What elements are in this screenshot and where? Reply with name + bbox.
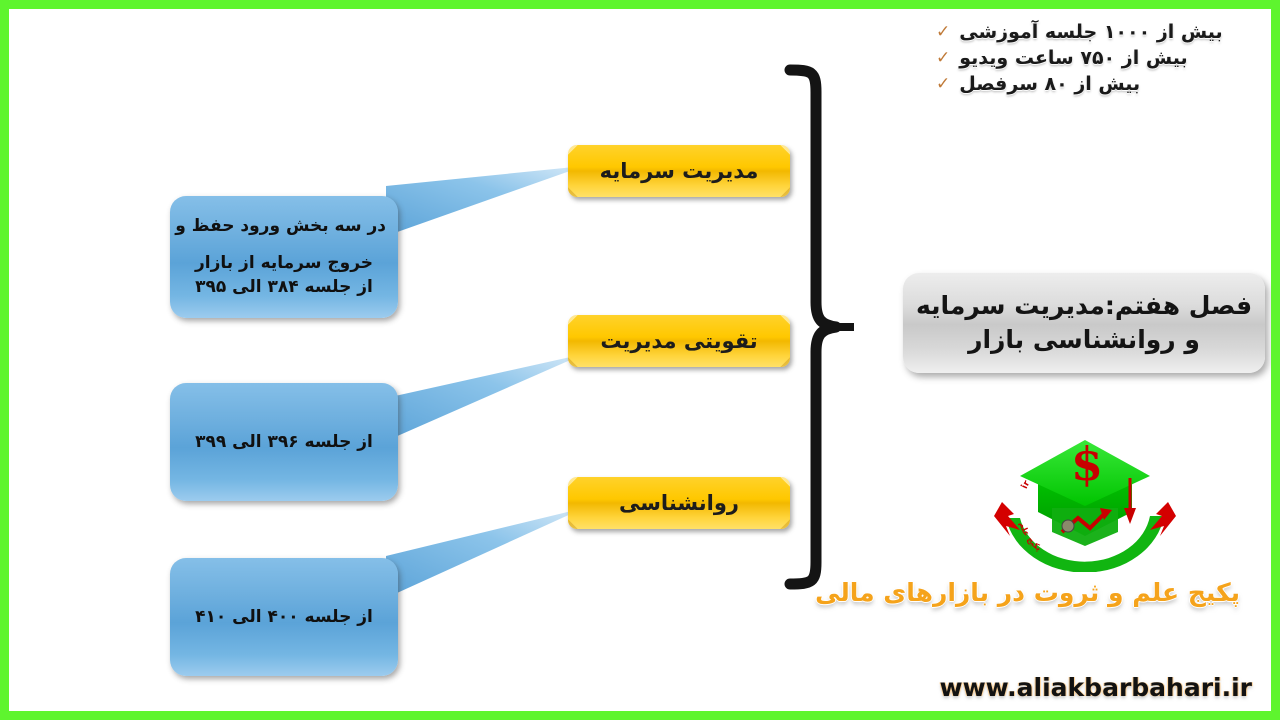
slide-canvas: ✓ بیش از ۱۰۰۰ جلسه آموزشی ✓ بیش از ۷۵۰ س…	[0, 0, 1280, 720]
footer-website-url[interactable]: www.aliakbarbahari.ir	[939, 673, 1252, 702]
slide-border-right	[1271, 0, 1280, 720]
slide-border-top	[0, 0, 1280, 9]
callout-line: در سه بخش ورود حفظ و	[182, 214, 386, 239]
brand-tagline: پکیج علم و ثروت در بازارهای مالی	[880, 578, 1240, 607]
callout-pointer-tail	[386, 336, 586, 446]
bullet-label: بیش از ۸۰ سرفصل	[959, 74, 1140, 96]
part-box-label: روانشناسی	[619, 491, 739, 515]
part-box-label: مدیریت سرمایه	[600, 159, 759, 183]
chapter-title-line-1: فصل هفتم:مدیریت سرمایه	[916, 289, 1252, 323]
brand-tagline-text: پکیج علم و ثروت در بازارهای مالی	[815, 578, 1240, 607]
tassel-end-icon	[1124, 508, 1136, 524]
slide-border-bottom	[0, 711, 1280, 720]
curly-brace-connector	[782, 62, 854, 592]
part-box-psychology[interactable]: روانشناسی	[568, 477, 790, 529]
part-box-management-reinforcement[interactable]: تقویتی مدیریت	[568, 315, 790, 367]
callout-line: خروج سرمایه از بازار	[182, 251, 386, 276]
bullet-label: بیش از ۷۵۰ ساعت ویدیو	[959, 48, 1187, 70]
bullet-item-video-hours: ✓ بیش از ۷۵۰ ساعت ویدیو	[936, 48, 1246, 70]
dollar-sign-icon: $	[1071, 437, 1103, 491]
chapter-title-text: فصل هفتم:مدیریت سرمایه و روانشناسی بازار	[916, 289, 1252, 357]
callout-pointer-tail	[386, 166, 586, 276]
coin-icon	[1062, 520, 1074, 532]
callout-management-reinforcement[interactable]: از جلسه ۳۹۶ الی ۳۹۹	[170, 383, 398, 501]
chapter-title-box[interactable]: فصل هفتم:مدیریت سرمایه و روانشناسی بازار	[903, 273, 1265, 373]
brand-logo: $ www.aliakbarbahari.ir پکیج علم و ثروت …	[990, 432, 1180, 572]
footer-url-text: www.aliakbarbahari.ir	[939, 673, 1252, 702]
callout-text-block: از جلسه ۳۹۶ الی ۳۹۹	[170, 430, 398, 455]
bullet-label: بیش از ۱۰۰۰ جلسه آموزشی	[959, 22, 1222, 44]
bullet-item-sessions: ✓ بیش از ۱۰۰۰ جلسه آموزشی	[936, 22, 1246, 44]
callout-pointer-tail	[386, 498, 586, 608]
slide-border-left	[0, 0, 9, 720]
callout-text-block: در سه بخش ورود حفظ و خروج سرمایه از بازا…	[170, 214, 398, 300]
part-box-capital-management[interactable]: مدیریت سرمایه	[568, 145, 790, 197]
callout-line: از جلسه ۳۸۴ الی ۳۹۵	[182, 275, 386, 300]
callout-text-block: از جلسه ۴۰۰ الی ۴۱۰	[170, 605, 398, 630]
callout-line: از جلسه ۴۰۰ الی ۴۱۰	[182, 605, 386, 630]
feature-bullet-list: ✓ بیش از ۱۰۰۰ جلسه آموزشی ✓ بیش از ۷۵۰ س…	[936, 22, 1246, 100]
part-box-label: تقویتی مدیریت	[600, 329, 757, 353]
callout-psychology[interactable]: از جلسه ۴۰۰ الی ۴۱۰	[170, 558, 398, 676]
logo-cap-text: www.aliakbarbahari.ir	[990, 432, 1033, 491]
callout-capital-management[interactable]: در سه بخش ورود حفظ و خروج سرمایه از بازا…	[170, 196, 398, 318]
check-icon: ✓	[936, 23, 950, 43]
callout-line: از جلسه ۳۹۶ الی ۳۹۹	[182, 430, 386, 455]
chapter-title-line-2: و روانشناسی بازار	[916, 323, 1252, 357]
check-icon: ✓	[936, 49, 950, 69]
check-icon: ✓	[936, 75, 950, 95]
bullet-item-topics: ✓ بیش از ۸۰ سرفصل	[936, 74, 1246, 96]
